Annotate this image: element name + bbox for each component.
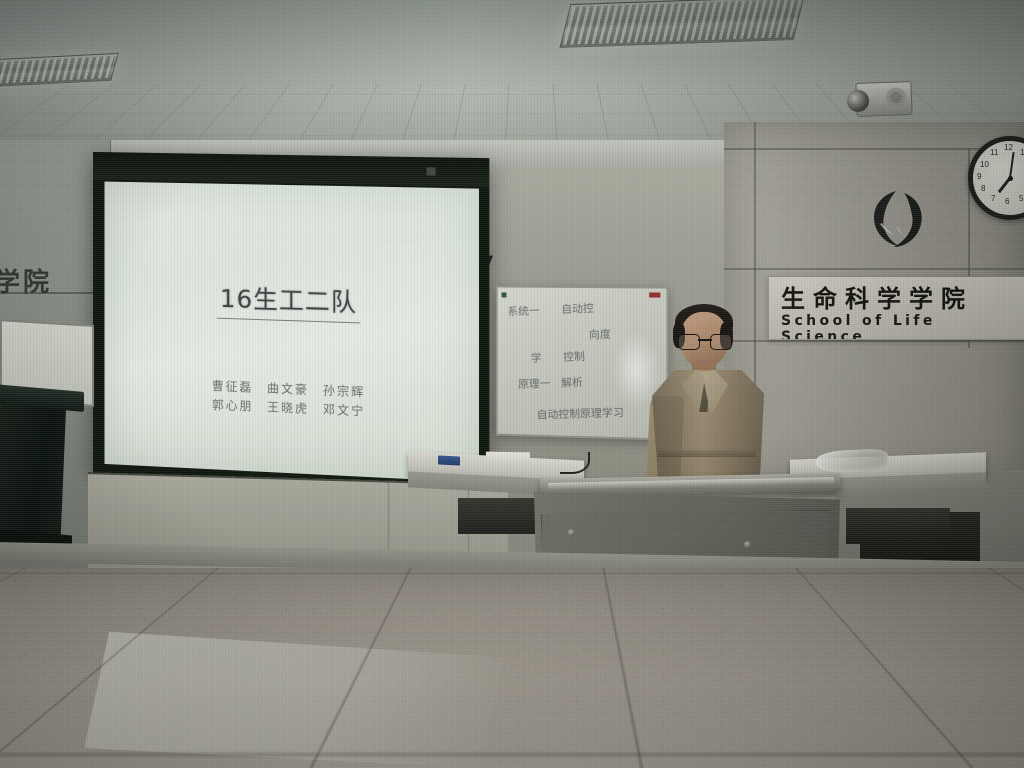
white-papers xyxy=(486,452,530,465)
coat-shading xyxy=(652,370,764,488)
clock-numeral: 7 xyxy=(991,194,995,203)
classroom-photo: 学院 生命科学学院 School of Life Science 12 1 2 … xyxy=(0,0,1024,768)
right-desk-recess xyxy=(846,508,950,544)
clock-numeral: 1 xyxy=(1020,148,1024,157)
clock-numeral: 8 xyxy=(981,184,985,193)
whiteboard-text: 原理一 解析 xyxy=(507,374,583,392)
left-wall-sign-underline xyxy=(0,292,96,294)
podium-screw xyxy=(744,541,751,548)
whiteboard-magnet xyxy=(502,292,507,297)
clock-numeral: 9 xyxy=(977,172,981,181)
blue-object xyxy=(438,455,460,465)
clock-numeral: 5 xyxy=(1019,194,1023,203)
clock-center-pin xyxy=(1008,176,1013,181)
presenter xyxy=(640,300,770,485)
sign-english-text: School of Life Science xyxy=(781,313,1024,340)
clock-numeral: 12 xyxy=(1004,143,1013,152)
whiteboard-text: 自动控制原理学习 xyxy=(515,404,624,423)
slide-name-list: 曹征磊 曲文豪 孙宗辉 郭心朋 王晓虎 邓文宁 xyxy=(104,373,478,427)
glasses-bridge xyxy=(698,339,712,341)
panel-seam xyxy=(724,268,1024,270)
sign-chinese-text: 生命科学学院 xyxy=(781,279,973,314)
clock-numeral: 10 xyxy=(980,160,989,169)
whiteboard-text: 学 控制 xyxy=(509,348,585,367)
glasses-icon xyxy=(678,334,732,348)
department-sign: 生命科学学院 School of Life Science xyxy=(768,276,1024,340)
camera-lens-icon xyxy=(847,90,870,113)
projected-slide: 16生工二队 曹征磊 曲文豪 孙宗辉 郭心朋 王晓虎 邓文宁 xyxy=(104,182,478,483)
glasses-lens xyxy=(710,334,732,350)
clock-numeral: 6 xyxy=(1005,197,1009,206)
projection-screen: 16生工二队 曹征磊 曲文豪 孙宗辉 郭心朋 王晓虎 邓文宁 xyxy=(93,152,489,495)
lectern-body xyxy=(0,404,66,544)
slide-title-text: 16生工二队 xyxy=(217,284,360,324)
camera-speaker-icon xyxy=(886,87,907,108)
slide-title: 16生工二队 xyxy=(104,276,478,324)
podium-screw xyxy=(568,529,575,536)
screen-roller-fitting xyxy=(426,167,435,175)
whiteboard-text: 系统一 自动控 xyxy=(507,300,594,320)
clock-minute-hand xyxy=(1009,152,1015,178)
security-camera xyxy=(855,81,912,117)
whiteboard-magnet xyxy=(649,292,660,297)
wooden-lectern xyxy=(0,388,82,560)
crescent-emblem-logo-icon xyxy=(866,188,926,250)
glasses-lens xyxy=(678,334,700,350)
clock-numeral: 11 xyxy=(990,148,998,157)
whiteboard-text: 向度 xyxy=(513,326,611,346)
